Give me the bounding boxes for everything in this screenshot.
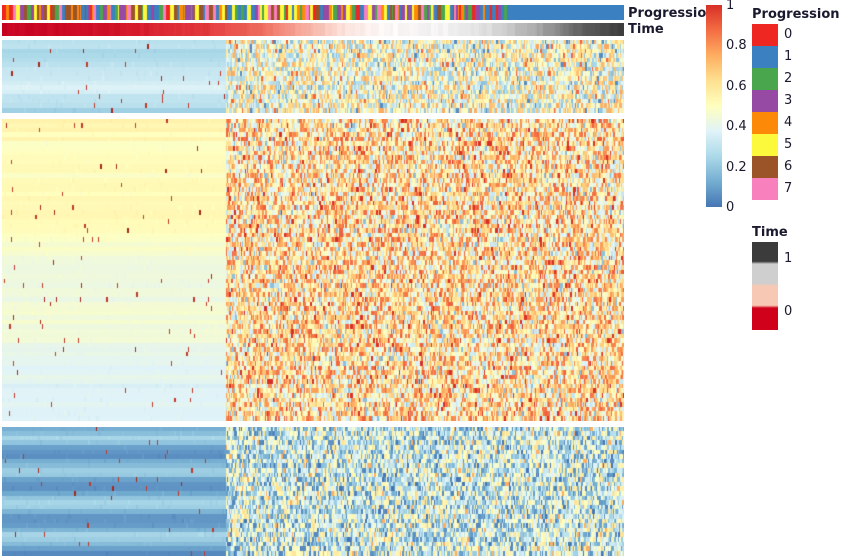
- legend-label-progression-1: 1: [784, 50, 792, 63]
- legend-item-progression-7[interactable]: 7: [752, 178, 778, 200]
- heatmap-block-top-canvas: [2, 40, 624, 113]
- legend-item-progression-3[interactable]: 3: [752, 90, 778, 112]
- legend-label-progression-3: 3: [784, 94, 792, 107]
- heatmap-block-bottom: [2, 427, 624, 556]
- legend-swatch-progression-7: [752, 178, 778, 200]
- colorbar-tick-0.8: 0.8: [726, 39, 747, 52]
- legend-item-progression-4[interactable]: 4: [752, 112, 778, 134]
- legend-swatch-progression-5: [752, 134, 778, 156]
- legend-progression-swatches: 01234567: [752, 24, 778, 200]
- annotation-progression-canvas: [2, 5, 624, 20]
- colorbar-tick-0: 0: [726, 201, 734, 214]
- legend-swatch-progression-1: [752, 46, 778, 68]
- annotation-bar-progression: [2, 5, 624, 20]
- legend-label-progression-0: 0: [784, 28, 792, 41]
- colorbar-tick-0.6: 0.6: [726, 80, 747, 93]
- legend-item-progression-0[interactable]: 0: [752, 24, 778, 46]
- value-colorbar: [706, 5, 722, 207]
- annotation-time-canvas: [2, 23, 624, 36]
- legend-label-progression-7: 7: [784, 182, 792, 195]
- legend-swatch-progression-2: [752, 68, 778, 90]
- legend-swatch-progression-6: [752, 156, 778, 178]
- legend-item-progression-2[interactable]: 2: [752, 68, 778, 90]
- legend-title-time: Time: [752, 226, 788, 239]
- heatmap-block-bottom-canvas: [2, 427, 624, 556]
- heatmap-figure: Progression Time 10.80.60.40.20 Progress…: [0, 0, 863, 556]
- colorbar-tick-0.2: 0.2: [726, 161, 747, 174]
- heatmap-block-middle-canvas: [2, 119, 624, 421]
- legend-title-progression: Progression: [752, 8, 840, 21]
- legend-swatch-progression-4: [752, 112, 778, 134]
- legend-swatch-progression-3: [752, 90, 778, 112]
- heatmap-block-middle: [2, 119, 624, 421]
- legend-time-label-min: 0: [784, 305, 792, 318]
- heatmap-block-top: [2, 40, 624, 113]
- annotation-label-time: Time: [628, 23, 664, 36]
- value-colorbar-gradient: [706, 5, 722, 207]
- colorbar-tick-1: 1: [726, 0, 734, 12]
- heatmap-body: [2, 40, 624, 556]
- annotation-label-progression: Progression: [628, 7, 716, 20]
- legend-item-progression-5[interactable]: 5: [752, 134, 778, 156]
- legend-item-progression-1[interactable]: 1: [752, 46, 778, 68]
- legend-swatch-progression-0: [752, 24, 778, 46]
- annotation-bar-time: [2, 23, 624, 36]
- legend-label-progression-4: 4: [784, 116, 792, 129]
- legend-time-gradient: [752, 242, 778, 330]
- legend-label-progression-5: 5: [784, 138, 792, 151]
- legend-label-progression-2: 2: [784, 72, 792, 85]
- legend-time-label-max: 1: [784, 252, 792, 265]
- legend-item-progression-6[interactable]: 6: [752, 156, 778, 178]
- colorbar-tick-0.4: 0.4: [726, 120, 747, 133]
- legend-label-progression-6: 6: [784, 160, 792, 173]
